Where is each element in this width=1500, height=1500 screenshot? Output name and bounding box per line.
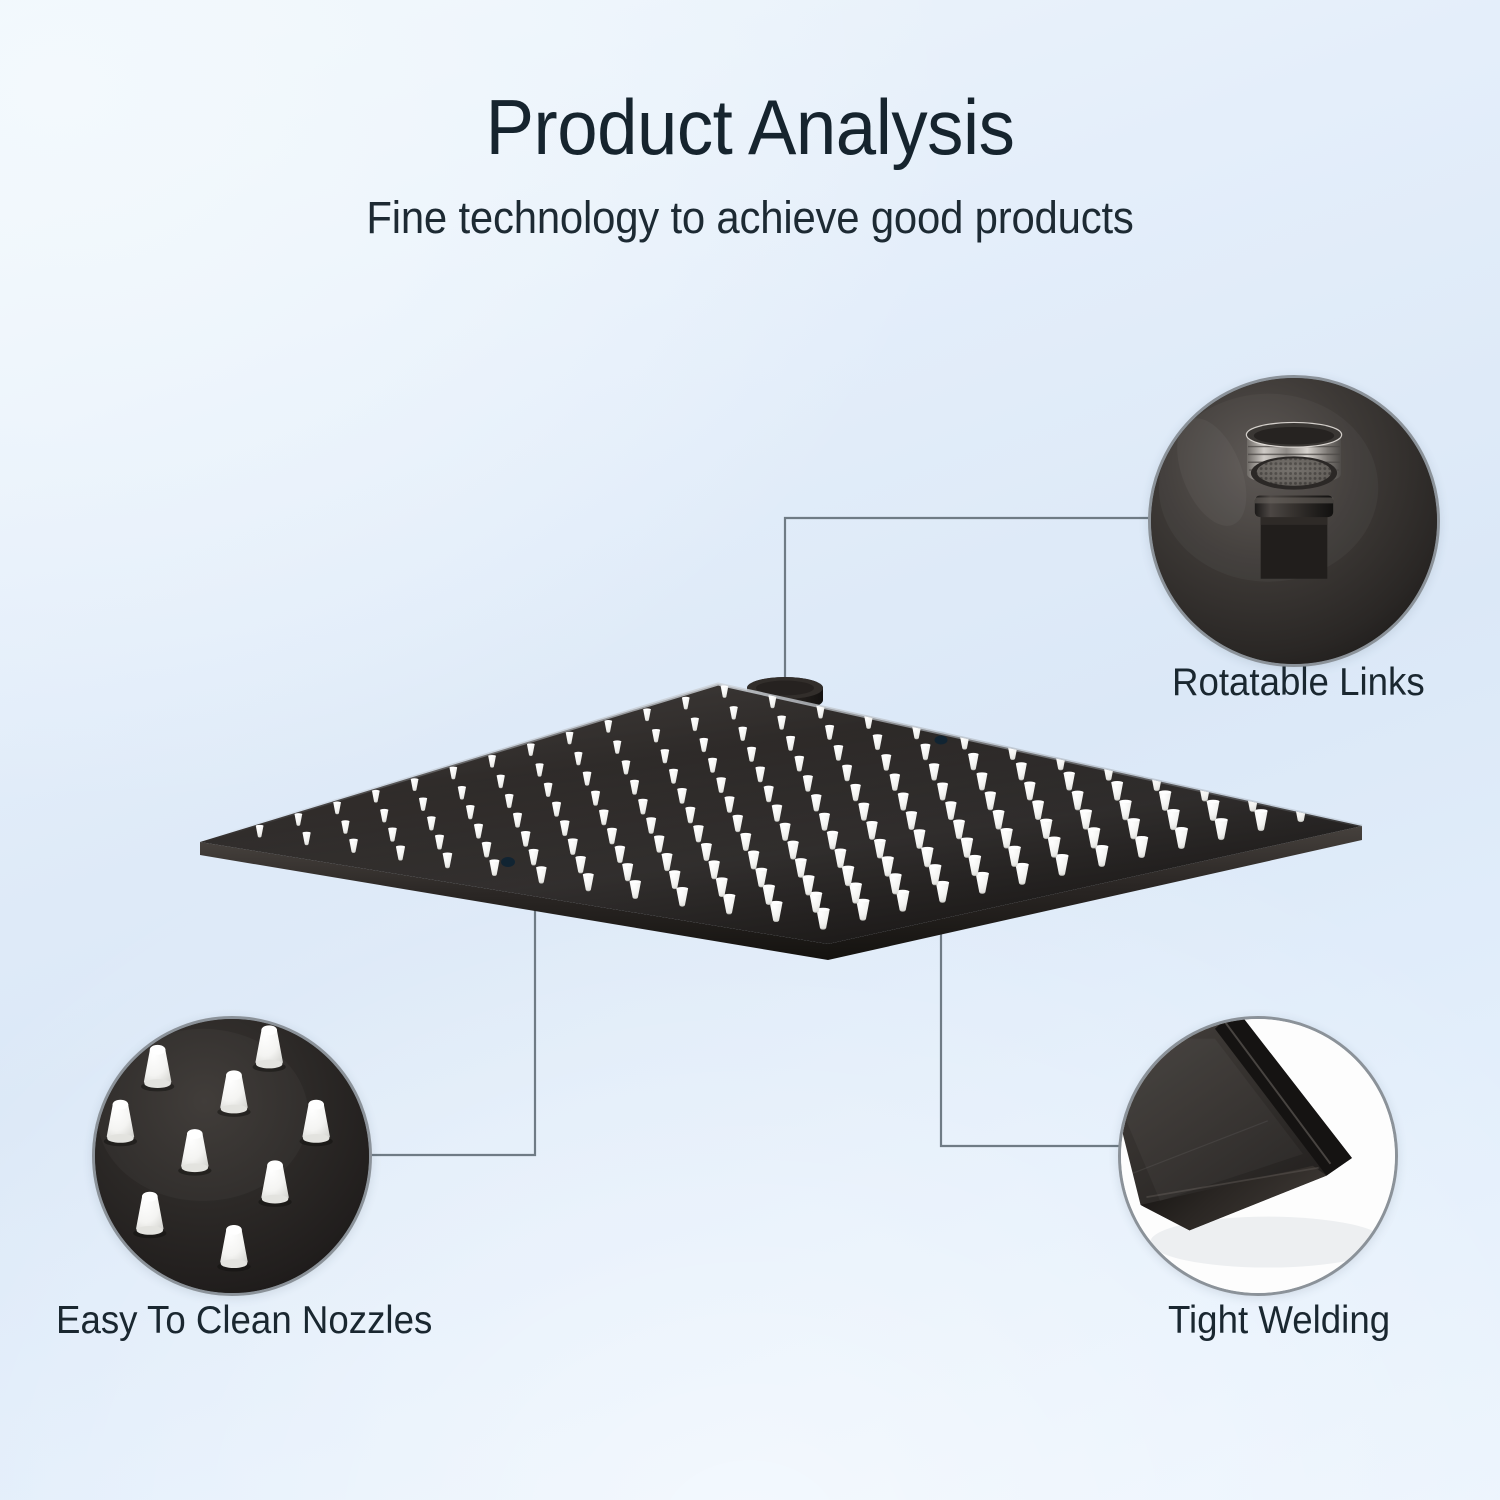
callout-label-welding: Tight Welding [1168,1300,1390,1343]
detail-circle-welding [1118,1016,1398,1296]
detail-circle-rotatable-links [1148,375,1440,667]
rotatable-link-art [1151,378,1437,664]
shower-head-panel [200,684,1362,960]
nozzle-closeup-art [95,1019,369,1293]
detail-circle-nozzles [92,1016,372,1296]
infographic-canvas: Product Analysis Fine technology to achi… [0,0,1500,1500]
callout-label-nozzles: Easy To Clean Nozzles [56,1300,432,1343]
welding-closeup-art [1121,1019,1395,1293]
callout-label-rotatable-links: Rotatable Links [1172,662,1425,705]
